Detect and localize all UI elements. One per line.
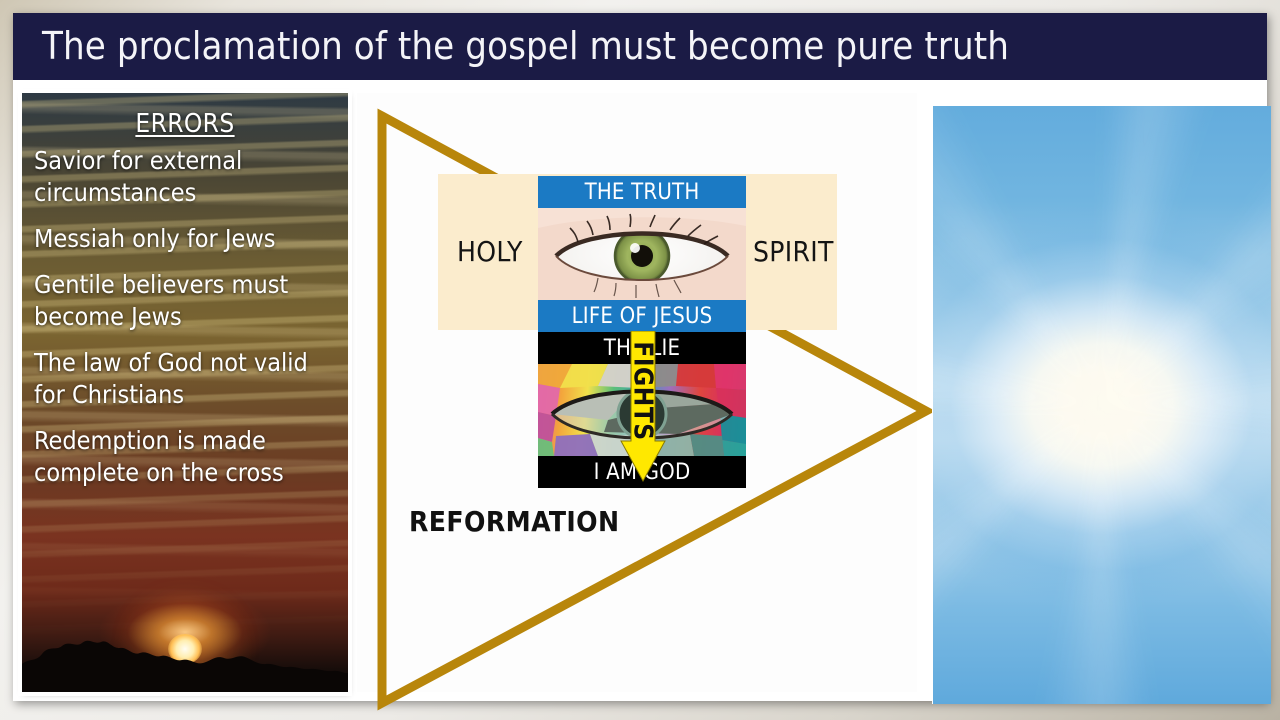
label-reformation: REFORMATION: [409, 505, 619, 538]
slide-surface: The proclamation of the gospel must beco…: [13, 13, 1267, 701]
error-item-5: Redemption is made complete on the cross: [32, 425, 338, 489]
label-spirit: SPIRIT: [753, 235, 834, 268]
error-item-4: The law of God not valid for Christians: [32, 347, 338, 411]
label-holy: HOLY: [457, 235, 523, 268]
slide-title: The proclamation of the gospel must beco…: [42, 20, 1009, 72]
banner-life-of-jesus: LIFE OF JESUS: [538, 300, 746, 332]
errors-photo-panel: ERRORS Savior for external circumstances…: [22, 93, 348, 692]
error-item-3: Gentile believers must become Jews: [32, 269, 338, 333]
green-eye-photo: [538, 208, 746, 300]
banner-the-truth: THE TRUTH: [538, 176, 746, 208]
fights-down-arrow: [620, 331, 666, 483]
tree-silhouette: [22, 618, 348, 692]
error-item-2: Messiah only for Jews: [32, 223, 338, 255]
sunburst-rays: [933, 106, 1271, 704]
slide-stage: The proclamation of the gospel must beco…: [0, 0, 1280, 720]
sky-glow-photo-panel: [933, 106, 1271, 704]
slide-title-band: The proclamation of the gospel must beco…: [13, 13, 1267, 80]
errors-text-block: ERRORS Savior for external circumstances…: [22, 93, 348, 503]
errors-heading: ERRORS: [32, 109, 338, 139]
error-item-1: Savior for external circumstances: [32, 145, 338, 209]
